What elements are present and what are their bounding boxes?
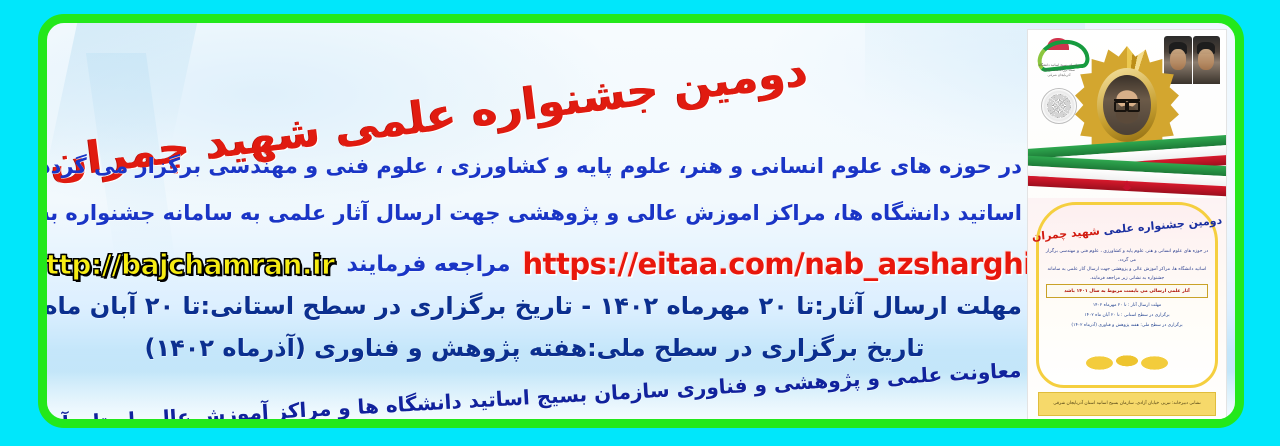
poster-ornament	[1084, 352, 1170, 374]
poster-footer: نشانی دبیرخانه: تبریز، خیابان آزادی، ساز…	[1038, 392, 1216, 416]
poster-date-1: مهلت ارسال آثار : تا ۲۰ مهرماه ۱۴۰۲	[1044, 301, 1210, 311]
poster-top-section: سازمان بسیج اساتید دانشگاه ستاد بزرگداشت…	[1028, 30, 1226, 204]
eitaa-channel-link[interactable]: https://eitaa.com/nab_azsharghi	[522, 247, 1032, 281]
url-separator-text: مراجعه فرمایند	[346, 252, 510, 277]
poster-date-3: برگزاری در سطح ملی: هفته پژوهش و فناوری …	[1044, 321, 1210, 331]
banner-frame: دومین جشنواره علمی شهید چمران در حوزه ها…	[38, 14, 1244, 428]
poster-highlight-strip: آثار علمی ارسالی می بایست مربوط به سال ۱…	[1046, 284, 1208, 298]
poster-date-2: برگزاری در سطح استانی : تا ۲۰ آبان ماه ۱…	[1044, 311, 1210, 321]
poster-subtitle: در حوزه های علوم انسانی و هنر، علوم پایه…	[1044, 248, 1210, 265]
festival-poster-thumbnail[interactable]: سازمان بسیج اساتید دانشگاه ستاد بزرگداشت…	[1027, 29, 1227, 427]
festival-banner: دومین جشنواره علمی شهید چمران در حوزه ها…	[0, 0, 1280, 446]
deadline-line-2: تاریخ برگزاری در سطح ملی:هفته پژوهش و فن…	[38, 334, 1022, 362]
poster-paragraph: اساتید دانشگاه ها، مراکز آموزش عالی و پژ…	[1044, 266, 1210, 283]
body-line-1: در حوزه های علوم انسانی و هنر، علوم پایه…	[38, 154, 1022, 178]
organizer-signature: معاونت علمی و پژوهشی و فناوری سازمان بسی…	[47, 358, 1022, 428]
deadline-line-1: مهلت ارسال آثار:تا ۲۰ مهرماه ۱۴۰۲ - تاری…	[38, 292, 1022, 320]
poster-bottom-section: دومین جشنواره علمی شهید چمران در حوزه ها…	[1028, 198, 1226, 426]
banner-content: دومین جشنواره علمی شهید چمران در حوزه ها…	[47, 23, 1022, 419]
url-row: http://bajchamran.ir مراجعه فرمایند http…	[47, 242, 1022, 286]
poster-dates: مهلت ارسال آثار : تا ۲۰ مهرماه ۱۴۰۲ برگز…	[1044, 301, 1210, 331]
website-url-link[interactable]: http://bajchamran.ir	[38, 248, 334, 281]
body-line-2: اساتید دانشگاه ها، مراکز اموزش عالی و پژ…	[38, 201, 1022, 225]
seal-logo-icon	[1041, 88, 1077, 124]
